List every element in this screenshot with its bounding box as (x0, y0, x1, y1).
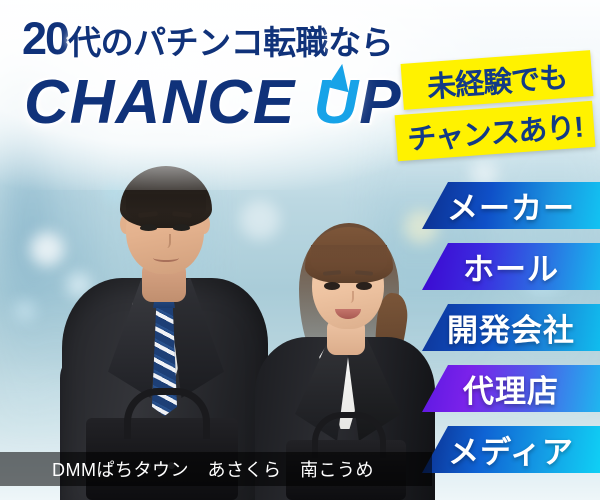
category-bar-media[interactable]: メディア (422, 426, 600, 473)
category-label: メーカー (447, 183, 575, 228)
logo-letter-u: U (313, 72, 359, 134)
badge-label: 未経験でも (426, 54, 569, 106)
businessman-eye-right (173, 224, 190, 231)
credit-text: DMMぱちタウン あさくら 南こうめ (52, 456, 374, 482)
logo-word-chance: CHANCE (24, 68, 295, 137)
category-label: ホール (463, 244, 559, 289)
category-bar-hall[interactable]: ホール (422, 243, 600, 290)
category-label: 代理店 (463, 366, 559, 411)
headline-number: 20 (22, 13, 68, 64)
businessman-nose (161, 234, 171, 248)
category-label: 開発会社 (447, 305, 575, 350)
category-bar-agency[interactable]: 代理店 (422, 365, 600, 412)
businesswoman-nose (345, 291, 354, 303)
businesswoman-eye-right (356, 282, 372, 290)
category-label: メディア (448, 427, 574, 472)
advertisement-banner[interactable]: 20代のパチンコ転職なら CHANCE UP 未経験でも チャンスあり! メーカ… (0, 0, 600, 500)
headline-line1: 20代のパチンコ転職なら (22, 16, 393, 61)
category-bar-development-company[interactable]: 開発会社 (422, 304, 600, 351)
headline-middle: 代のパチンコ転職 (68, 24, 328, 61)
logo-chance-up: CHANCE UP (24, 72, 402, 134)
briefcase-handle-man (124, 388, 210, 439)
businessman-hair (120, 166, 212, 228)
headline-tail: なら (328, 24, 393, 61)
businesswoman-eye-left (324, 282, 340, 290)
businessman-mouth (153, 254, 179, 262)
category-bar-maker[interactable]: メーカー (422, 182, 600, 229)
credit-strip: DMMぱちタウン あさくら 南こうめ (0, 452, 432, 486)
businessman-eye-left (140, 224, 157, 231)
